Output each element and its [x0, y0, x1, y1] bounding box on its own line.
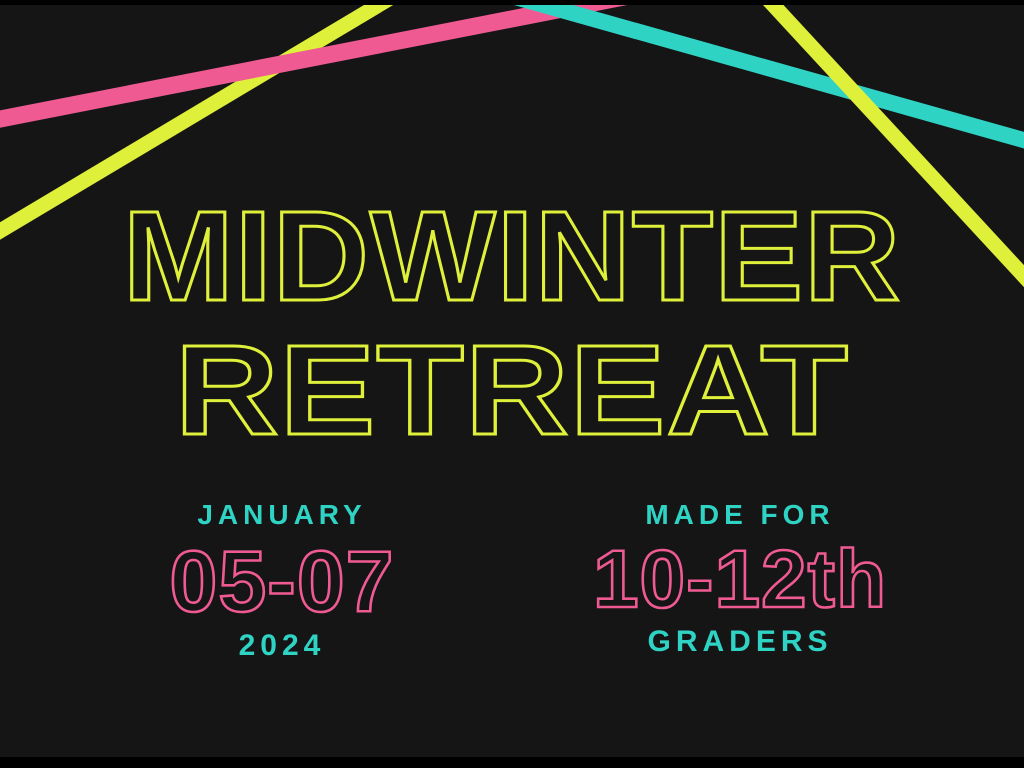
letterbox-bar-bottom: [0, 757, 1024, 768]
dates-month-label: JANUARY: [72, 501, 492, 529]
dates-day-range: 05-07: [72, 537, 492, 627]
dates-panel: JANUARY 05-07 2024: [72, 501, 492, 661]
poster-artboard: MIDWINTER RETREAT JANUARY 05-07 2024 MAD…: [0, 5, 1024, 757]
letterbox-bar-top: [0, 0, 1024, 5]
grades-range: 10-12th: [530, 537, 950, 623]
dates-year: 2024: [72, 631, 492, 661]
poster-canvas: MIDWINTER RETREAT JANUARY 05-07 2024 MAD…: [0, 0, 1024, 768]
grades-made-for-label: MADE FOR: [530, 501, 950, 529]
grades-footnote: GRADERS: [530, 627, 950, 657]
grades-panel: MADE FOR 10-12th GRADERS: [530, 501, 950, 657]
page-title-line-2: RETREAT: [0, 327, 1024, 455]
page-title-line-1: MIDWINTER: [0, 193, 1024, 321]
poster-content: MIDWINTER RETREAT JANUARY 05-07 2024 MAD…: [0, 5, 1024, 757]
